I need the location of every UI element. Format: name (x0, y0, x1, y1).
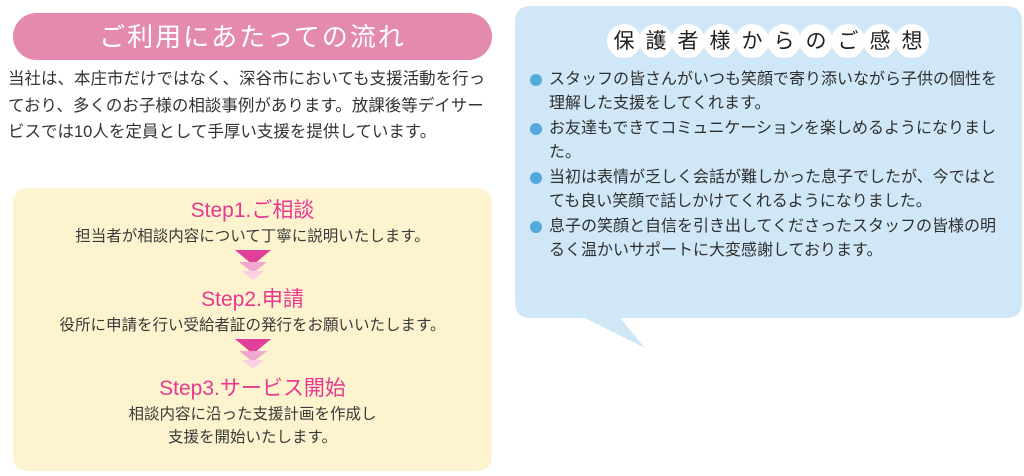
testimonials-list: スタッフの皆さんがいつも笑顔で寄り添いながら子供の個性を理解した支援をしてくれま… (530, 68, 1008, 264)
step-arrow-2-to-3 (13, 339, 492, 369)
bullet-circle-icon (530, 74, 542, 86)
testimonial-text: 息子の笑顔と自信を引き出してくださったスタッフの皆様の明るく温かいサポートに大変… (549, 218, 996, 259)
flow-header-title: ご利用にあたっての流れ (99, 24, 406, 50)
testimonials-header-char-0: 保 (607, 24, 641, 58)
flow-section: ご利用にあたっての流れ 当社は、本庄市だけではなく、深谷市においても支援活動を行… (0, 0, 500, 476)
testimonials-header: 保護者様からのご感想 (512, 24, 1024, 58)
step-1-title: Step1.ご相談 (13, 198, 492, 223)
testimonials-header-char-9: 想 (895, 24, 929, 58)
testimonial-item: お友達もできてコミュニケーションを楽しめるようになりました。 (530, 117, 1008, 164)
flow-intro-text: 当社は、本庄市だけではなく、深谷市においても支援活動を行っており、多くのお子様の… (8, 66, 492, 146)
step-3-title: Step3.サービス開始 (13, 376, 492, 401)
testimonial-text: 当初は表情が乏しく会話が難しかった息子でしたが、今ではとても良い笑顔で話しかけて… (549, 169, 997, 210)
testimonials-header-char-2: 者 (671, 24, 705, 58)
flow-header-banner: ご利用にあたっての流れ (13, 13, 492, 60)
step-2-description: 役所に申請を行い受給者証の発行をお願いいたします。 (13, 315, 492, 337)
testimonials-header-char-7: ご (831, 24, 865, 58)
step-arrow-1-to-2 (13, 250, 492, 280)
bullet-circle-icon (530, 172, 542, 184)
step-2-title: Step2.申請 (13, 287, 492, 312)
step-3: Step3.サービス開始 相談内容に沿った支援計画を作成し 支援を開始いたします… (13, 376, 492, 449)
testimonials-header-char-8: 感 (863, 24, 897, 58)
testimonials-header-char-5: ら (767, 24, 801, 58)
testimonial-text: お友達もできてコミュニケーションを楽しめるようになりました。 (549, 120, 996, 161)
testimonials-header-char-4: か (735, 24, 769, 58)
bullet-circle-icon (530, 123, 542, 135)
testimonial-item: 息子の笑顔と自信を引き出してくださったスタッフの皆様の明るく温かいサポートに大変… (530, 215, 1008, 262)
testimonials-section: 保護者様からのご感想 スタッフの皆さんがいつも笑顔で寄り添いながら子供の個性を理… (512, 0, 1024, 476)
page-root: ご利用にあたっての流れ 当社は、本庄市だけではなく、深谷市においても支援活動を行… (0, 0, 1024, 476)
testimonial-text: スタッフの皆さんがいつも笑顔で寄り添いながら子供の個性を理解した支援をしてくれま… (549, 71, 997, 112)
testimonial-item: 当初は表情が乏しく会話が難しかった息子でしたが、今ではとても良い笑顔で話しかけて… (530, 166, 1008, 213)
testimonials-header-char-3: 様 (703, 24, 737, 58)
step-2: Step2.申請 役所に申請を行い受給者証の発行をお願いいたします。 (13, 287, 492, 338)
step-1: Step1.ご相談 担当者が相談内容について丁寧に説明いたします。 (13, 198, 492, 249)
steps-container: Step1.ご相談 担当者が相談内容について丁寧に説明いたします。 Step2.… (13, 188, 492, 471)
step-1-description: 担当者が相談内容について丁寧に説明いたします。 (13, 226, 492, 248)
triple-chevron-down-icon (230, 339, 276, 369)
testimonials-header-char-1: 護 (639, 24, 673, 58)
step-3-description-line-1: 相談内容に沿った支援計画を作成し (13, 404, 492, 426)
step-3-description-line-2: 支援を開始いたします。 (13, 427, 492, 449)
triple-chevron-down-icon (230, 250, 276, 280)
testimonial-item: スタッフの皆さんがいつも笑顔で寄り添いながら子供の個性を理解した支援をしてくれま… (530, 68, 1008, 115)
testimonials-header-char-6: の (799, 24, 833, 58)
bullet-circle-icon (530, 221, 542, 233)
